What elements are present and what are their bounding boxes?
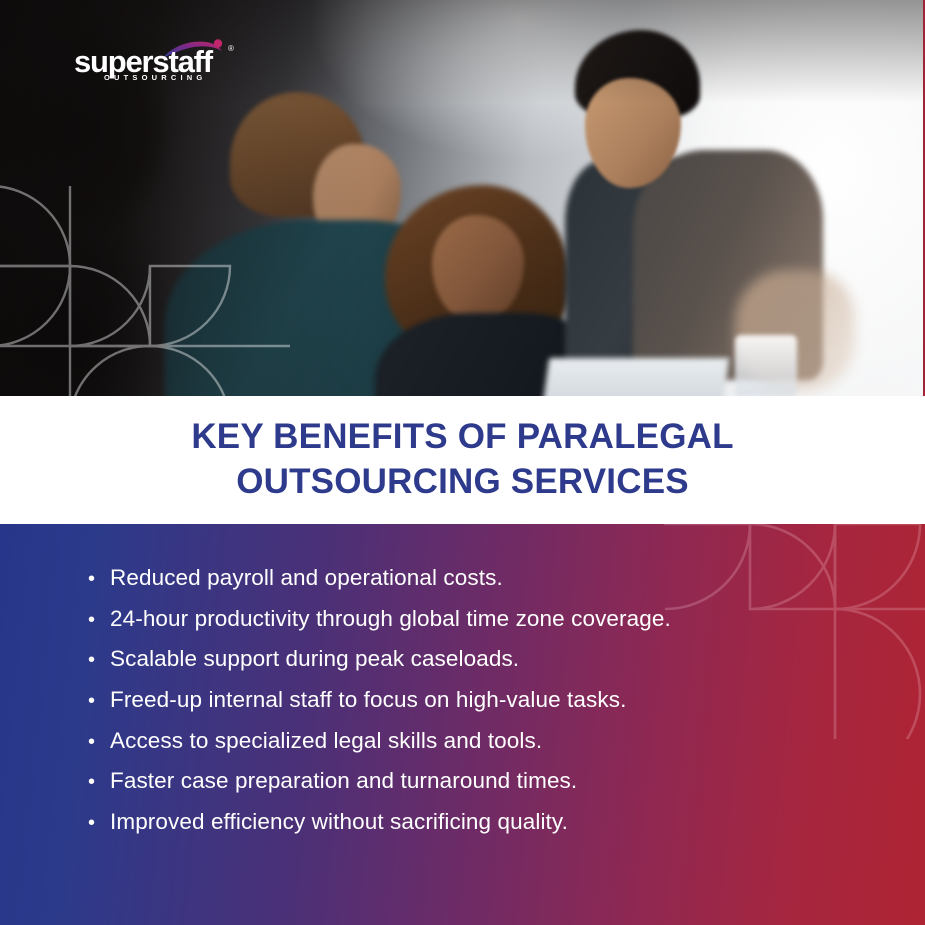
list-item-label: 24-hour productivity through global time… — [110, 605, 671, 633]
list-item: • Freed-up internal staff to focus on hi… — [88, 686, 885, 714]
list-item: • Reduced payroll and operational costs. — [88, 564, 885, 592]
list-item-label: Scalable support during peak caseloads. — [110, 645, 519, 673]
logo-trademark-symbol: ® — [228, 44, 234, 53]
bullet-dot-icon: • — [88, 610, 110, 630]
list-item-label: Reduced payroll and operational costs. — [110, 564, 503, 592]
list-item: • Access to specialized legal skills and… — [88, 727, 885, 755]
bullet-dot-icon: • — [88, 569, 110, 589]
bullet-dot-icon: • — [88, 813, 110, 833]
bullet-dot-icon: • — [88, 732, 110, 752]
list-item: • Faster case preparation and turnaround… — [88, 767, 885, 795]
list-item-label: Faster case preparation and turnaround t… — [110, 767, 577, 795]
bullet-dot-icon: • — [88, 650, 110, 670]
list-item: • Scalable support during peak caseloads… — [88, 645, 885, 673]
title-band: KEY BENEFITS OF PARALEGAL OUTSOURCING SE… — [0, 396, 925, 524]
hero-photo-section: superstaff ® OUTSOURCING — [0, 0, 925, 396]
list-item: • 24-hour productivity through global ti… — [88, 605, 885, 633]
list-item: • Improved efficiency without sacrificin… — [88, 808, 885, 836]
infographic-poster: superstaff ® OUTSOURCING KEY BENEFITS OF… — [0, 0, 925, 925]
list-item-label: Improved efficiency without sacrificing … — [110, 808, 568, 836]
list-item-label: Access to specialized legal skills and t… — [110, 727, 542, 755]
page-title: KEY BENEFITS OF PARALEGAL OUTSOURCING SE… — [191, 415, 733, 505]
benefits-section: • Reduced payroll and operational costs.… — [0, 524, 925, 925]
list-item-label: Freed-up internal staff to focus on high… — [110, 686, 626, 714]
bullet-dot-icon: • — [88, 691, 110, 711]
bullet-dot-icon: • — [88, 772, 110, 792]
benefits-list: • Reduced payroll and operational costs.… — [88, 564, 885, 848]
logo-dot-icon — [214, 39, 222, 47]
superstaff-logo[interactable]: superstaff ® OUTSOURCING — [74, 40, 249, 82]
logo-tagline: OUTSOURCING — [104, 73, 206, 82]
petal-line-art-decoration — [0, 166, 290, 396]
